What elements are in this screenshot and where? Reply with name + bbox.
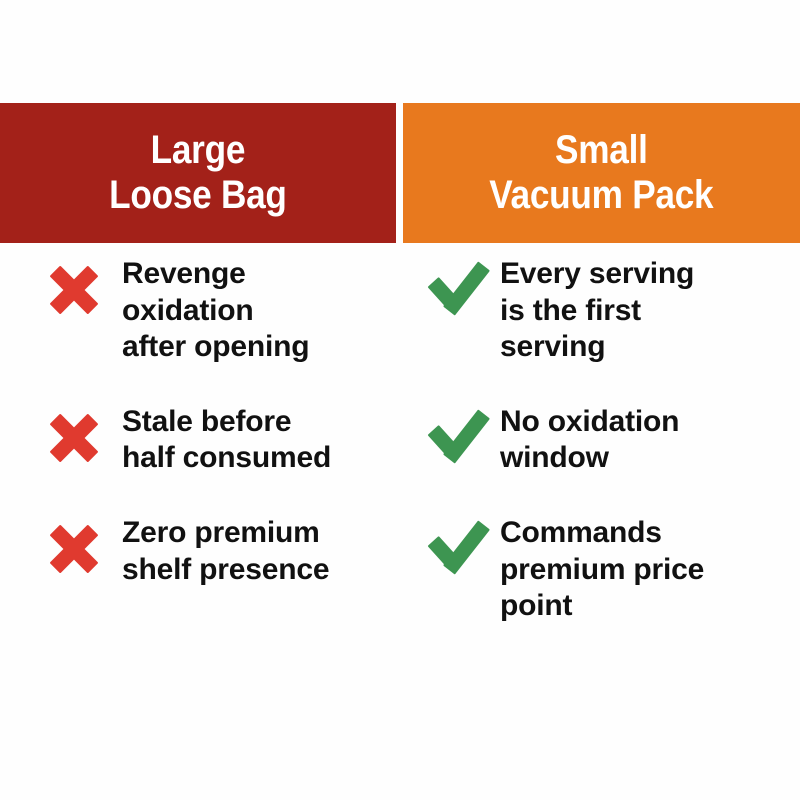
list-item: Stale before half consumed (48, 400, 400, 477)
column-small-vacuum-pack: Every serving is the first serving No ox… (400, 252, 800, 722)
list-item-label: Zero premium shelf presence (122, 511, 329, 588)
header-divider (396, 103, 403, 243)
list-item: Revenge oxidation after opening (48, 252, 400, 366)
header-title-left: Large Loose Bag (109, 128, 287, 218)
list-item-label: Stale before half consumed (122, 400, 331, 477)
header-row: Large Loose Bag Small Vacuum Pack (0, 103, 800, 243)
list-item: Zero premium shelf presence (48, 511, 400, 588)
comparison-infographic: Large Loose Bag Small Vacuum Pack Reveng… (0, 0, 800, 800)
check-mark-icon (428, 412, 486, 470)
x-mark-icon (48, 412, 106, 470)
list-item-label: Revenge oxidation after opening (122, 252, 309, 366)
x-mark-icon (48, 523, 106, 581)
header-cell-large-loose-bag: Large Loose Bag (0, 103, 396, 243)
list-item-label: Commands premium price point (500, 511, 704, 625)
list-item: Commands premium price point (428, 511, 800, 625)
list-item: Every serving is the first serving (428, 252, 800, 366)
list-item-label: No oxidation window (500, 400, 679, 477)
check-mark-icon (428, 264, 486, 322)
list-item-label: Every serving is the first serving (500, 252, 694, 366)
check-mark-icon (428, 523, 486, 581)
header-cell-small-vacuum-pack: Small Vacuum Pack (403, 103, 800, 243)
header-title-right: Small Vacuum Pack (489, 128, 713, 218)
list-item: No oxidation window (428, 400, 800, 477)
body-columns: Revenge oxidation after opening Stale be… (0, 252, 800, 722)
x-mark-icon (48, 264, 106, 322)
column-large-loose-bag: Revenge oxidation after opening Stale be… (0, 252, 400, 722)
